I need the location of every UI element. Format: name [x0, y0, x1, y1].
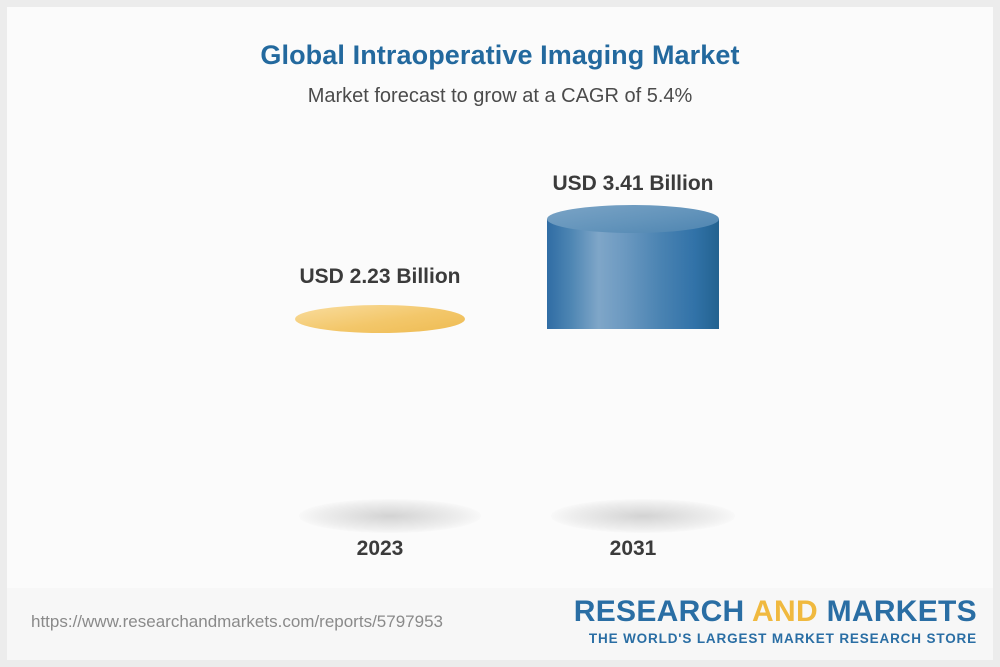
chart-canvas: Global Intraoperative Imaging Market Mar…	[7, 7, 993, 660]
cylinder-top-2031	[547, 205, 719, 233]
logo-word-markets: MARKETS	[827, 595, 977, 628]
logo-wordmark: RESEARCH AND MARKETS	[574, 596, 977, 628]
cylinder-body-2023	[295, 319, 465, 513]
value-label-2023: USD 2.23 Billion	[220, 265, 540, 289]
cylinder-2031	[547, 205, 719, 527]
logo-word-research: RESEARCH	[574, 595, 752, 628]
cylinder-top-2023	[295, 305, 465, 333]
infographic-root: Global Intraoperative Imaging Market Mar…	[0, 0, 1000, 667]
category-label-2031: 2031	[473, 537, 793, 561]
cylinder-2023	[295, 305, 465, 527]
plot-area: USD 2.23 Billion 2023 USD 3.41 Billion	[7, 7, 993, 587]
cylinder-segment-growth-2031	[547, 219, 719, 329]
logo-word-and: AND	[752, 595, 827, 628]
value-label-2031: USD 3.41 Billion	[473, 172, 793, 196]
logo-tagline: THE WORLD'S LARGEST MARKET RESEARCH STOR…	[574, 631, 977, 646]
brand-logo[interactable]: RESEARCH AND MARKETS THE WORLD'S LARGEST…	[574, 596, 977, 646]
footer: https://www.researchandmarkets.com/repor…	[7, 588, 993, 660]
cylinder-segment-base-2031	[547, 329, 719, 513]
report-url[interactable]: https://www.researchandmarkets.com/repor…	[31, 612, 443, 632]
